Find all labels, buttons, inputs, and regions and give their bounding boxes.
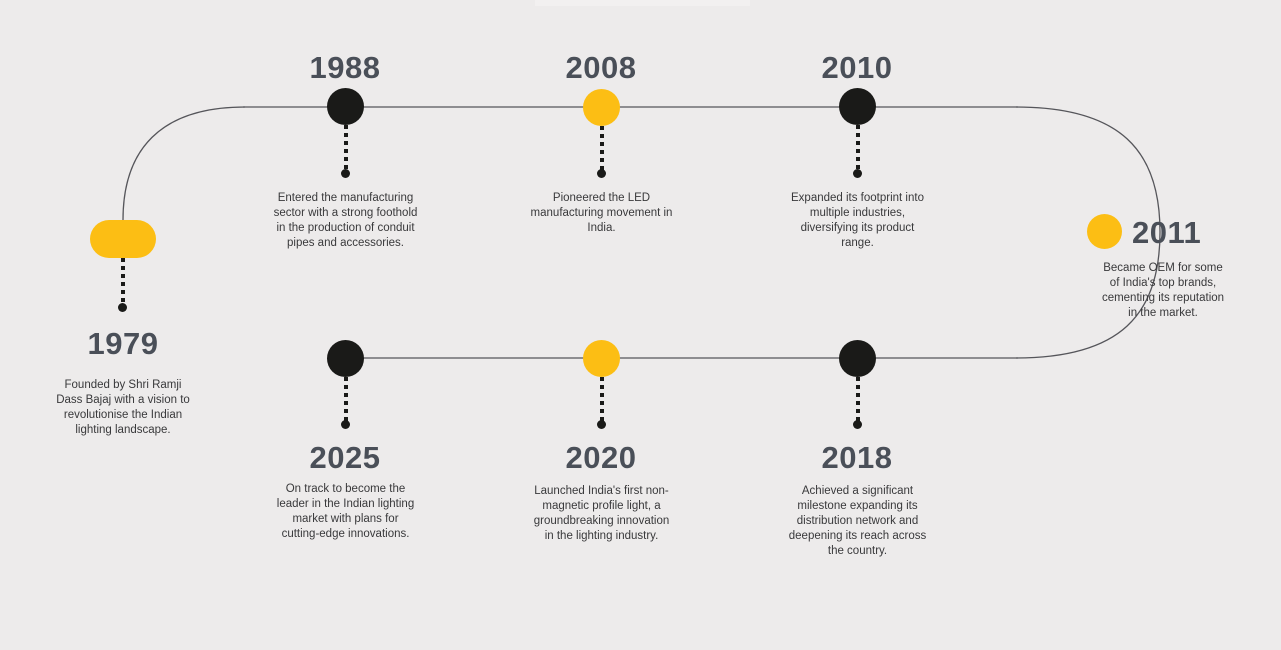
milestone-stem-dot-2010 [853,169,862,178]
curve-start-to-top [123,107,245,220]
milestone-description-1988: Entered the manufacturing sector with a … [273,191,418,251]
milestone-description-2025: On track to become the leader in the Ind… [273,482,418,542]
milestone-description-2020: Launched India's first non-magnetic prof… [529,484,674,544]
milestone-year-2020: 2020 [526,442,676,473]
milestone-stem-2020 [600,377,604,423]
milestone-year-2008: 2008 [526,52,676,83]
milestone-marker-1988[interactable] [327,88,364,125]
milestone-stem-dot-2018 [853,420,862,429]
milestone-stem-1988 [344,125,348,172]
milestone-marker-2008[interactable] [583,89,620,126]
milestone-stem-dot-2008 [597,169,606,178]
milestone-stem-dot-2025 [341,420,350,429]
milestone-stem-dot-1979 [118,303,127,312]
milestone-year-2010: 2010 [782,52,932,83]
milestone-marker-2020[interactable] [583,340,620,377]
milestone-marker-2010[interactable] [839,88,876,125]
milestone-marker-2025[interactable] [327,340,364,377]
milestone-marker-2011[interactable] [1087,214,1122,249]
milestone-stem-1979 [121,258,125,306]
milestone-year-2025: 2025 [270,442,420,473]
timeline-track [0,0,1281,650]
milestone-marker-1979[interactable] [90,220,156,258]
milestone-year-2011: 2011 [1132,217,1252,248]
milestone-stem-2025 [344,377,348,423]
milestone-description-1979: Founded by Shri Ramji Dass Bajaj with a … [53,378,193,438]
timeline-infographic: 1979 Founded by Shri Ramji Dass Bajaj wi… [0,0,1281,650]
milestone-stem-2018 [856,377,860,423]
milestone-stem-2010 [856,125,860,172]
milestone-year-1988: 1988 [270,52,420,83]
milestone-description-2010: Expanded its footprint into multiple ind… [785,191,930,251]
milestone-description-2011: Became OEM for some of India's top brand… [1098,261,1228,321]
milestone-year-2018: 2018 [782,442,932,473]
milestone-stem-2008 [600,126,604,172]
milestone-description-2008: Pioneered the LED manufacturing movement… [529,191,674,236]
milestone-description-2018: Achieved a significant milestone expandi… [785,484,930,559]
milestone-stem-dot-2020 [597,420,606,429]
milestone-marker-2018[interactable] [839,340,876,377]
milestone-stem-dot-1988 [341,169,350,178]
top-edge-band [535,0,750,6]
milestone-year-1979: 1979 [48,328,198,359]
